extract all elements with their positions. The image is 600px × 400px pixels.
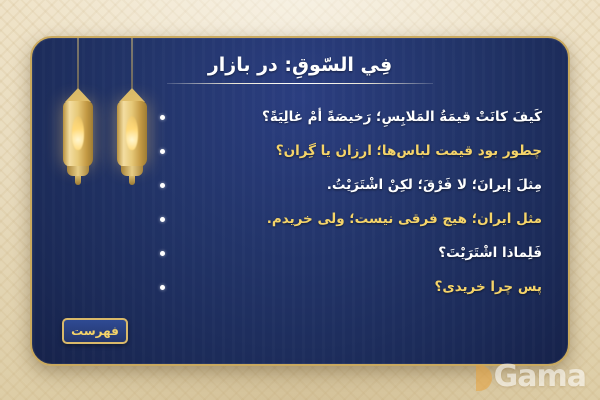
list-item-text: كَيفَ كانَتْ قيمَةُ المَلابِسِ؛ رَخيصَةً… [177, 109, 542, 125]
bullet-icon [160, 149, 165, 154]
bullet-icon [160, 183, 165, 188]
bullet-icon [160, 217, 165, 222]
lantern-foot [75, 176, 81, 185]
fehrest-button[interactable]: فهرست [62, 318, 128, 344]
list-item: مِثلَ إيرانَ؛ لا فَرْقَ؛ لكِنْ اشْتَرَيْ… [160, 168, 546, 202]
title-block: فِي السّوقِ: در بازار [32, 54, 568, 84]
list-item: چطور بود قیمت لباس‌ها؛ ارزان یا گِران؟ [160, 134, 546, 168]
list-item-text: مِثلَ إيرانَ؛ لا فَرْقَ؛ لكِنْ اشْتَرَيْ… [177, 177, 542, 193]
list-item-text: فَلِماذا اشْتَرَيْتَ؟ [177, 245, 542, 261]
lantern-top [65, 88, 91, 102]
lantern-base [121, 166, 143, 176]
slide-canvas: فِي السّوقِ: در بازار كَيفَ كانَتْ قيمَة… [0, 0, 600, 400]
list-item: فَلِماذا اشْتَرَيْتَ؟ [160, 236, 546, 270]
list-item: مثل ایران؛ هیچ فرقی نیست؛ ولی خریدم. [160, 202, 546, 236]
title-divider [167, 83, 433, 84]
list-item: پس چرا خریدی؟ [160, 270, 546, 304]
list-item: كَيفَ كانَتْ قيمَةُ المَلابِسِ؛ رَخيصَةً… [160, 100, 546, 134]
lantern-flame [72, 116, 84, 150]
lantern-base [67, 166, 89, 176]
content-card: فِي السّوقِ: در بازار كَيفَ كانَتْ قيمَة… [30, 36, 570, 366]
bullet-icon [160, 115, 165, 120]
list-item-text: پس چرا خریدی؟ [177, 279, 542, 295]
dialogue-list: كَيفَ كانَتْ قيمَةُ المَلابِسِ؛ رَخيصَةً… [160, 100, 546, 304]
list-item-text: مثل ایران؛ هیچ فرقی نیست؛ ولی خریدم. [177, 211, 542, 227]
lantern-flame [126, 116, 138, 150]
lantern-foot [129, 176, 135, 185]
bullet-icon [160, 251, 165, 256]
bullet-icon [160, 285, 165, 290]
lantern-top [119, 88, 145, 102]
watermark-mark-icon [476, 365, 492, 391]
list-item-text: چطور بود قیمت لباس‌ها؛ ارزان یا گِران؟ [177, 143, 542, 159]
page-title: فِي السّوقِ: در بازار [32, 54, 568, 76]
